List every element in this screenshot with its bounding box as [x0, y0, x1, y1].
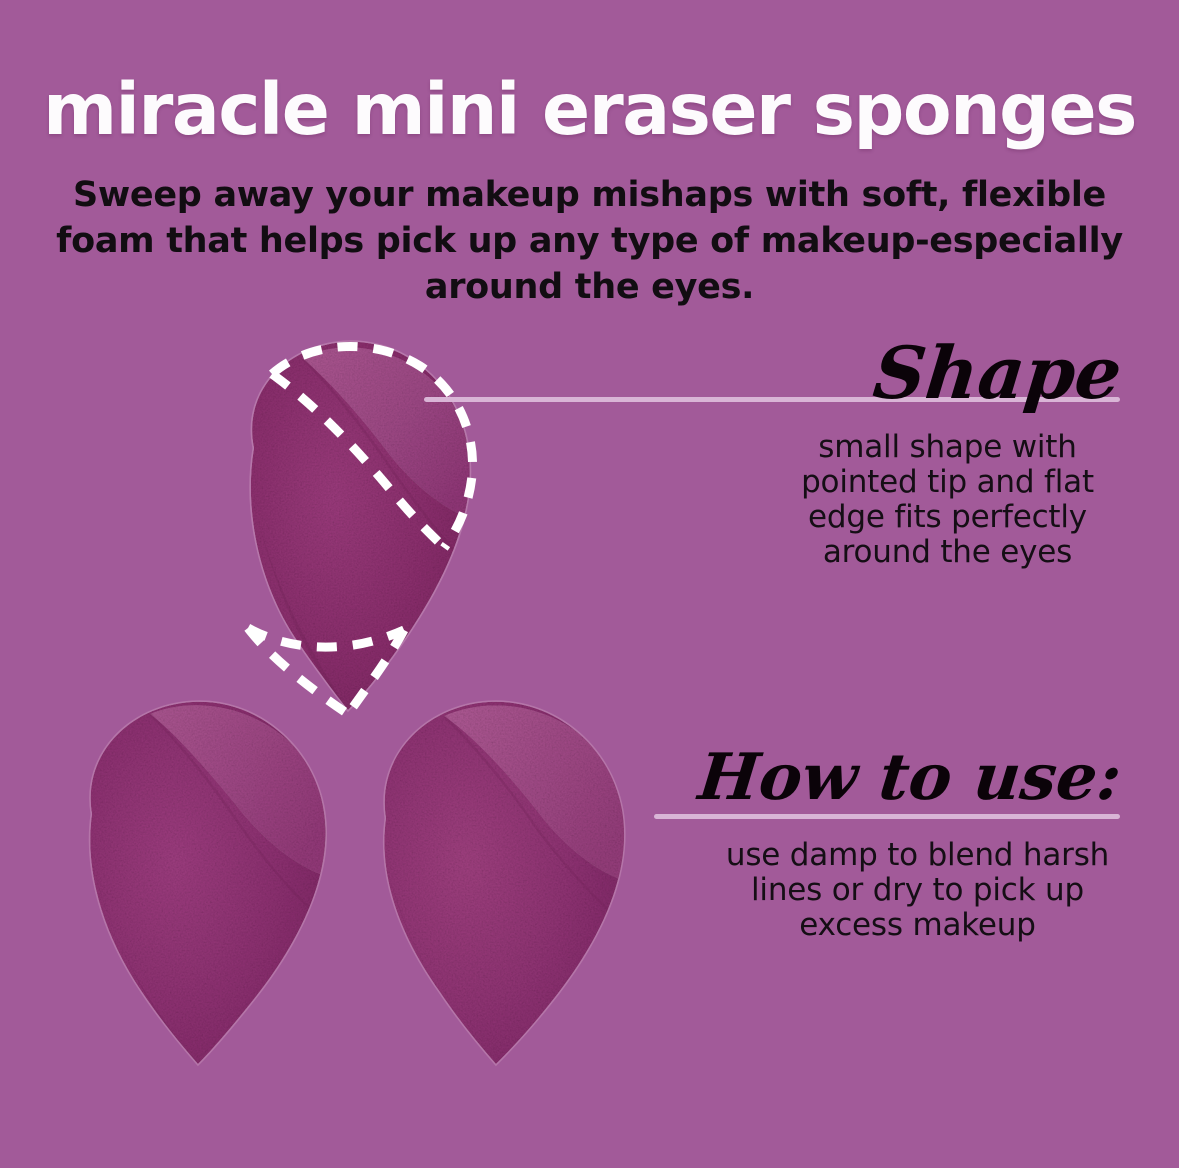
howto-heading: How to use:	[695, 742, 1125, 814]
sponge-left-image	[52, 692, 372, 1072]
sponge-top-image	[196, 330, 516, 720]
shape-heading: Shape	[870, 334, 1125, 412]
shape-description: small shape with pointed tip and flat ed…	[760, 430, 1135, 570]
page-subtitle: Sweep away your makeup mishaps with soft…	[50, 172, 1129, 310]
page-title: miracle mini eraser sponges	[0, 72, 1179, 148]
sponge-right-image	[352, 692, 672, 1072]
infographic-canvas: miracle mini eraser sponges Sweep away y…	[0, 0, 1179, 1168]
howto-description: use damp to blend harsh lines or dry to …	[700, 838, 1135, 943]
